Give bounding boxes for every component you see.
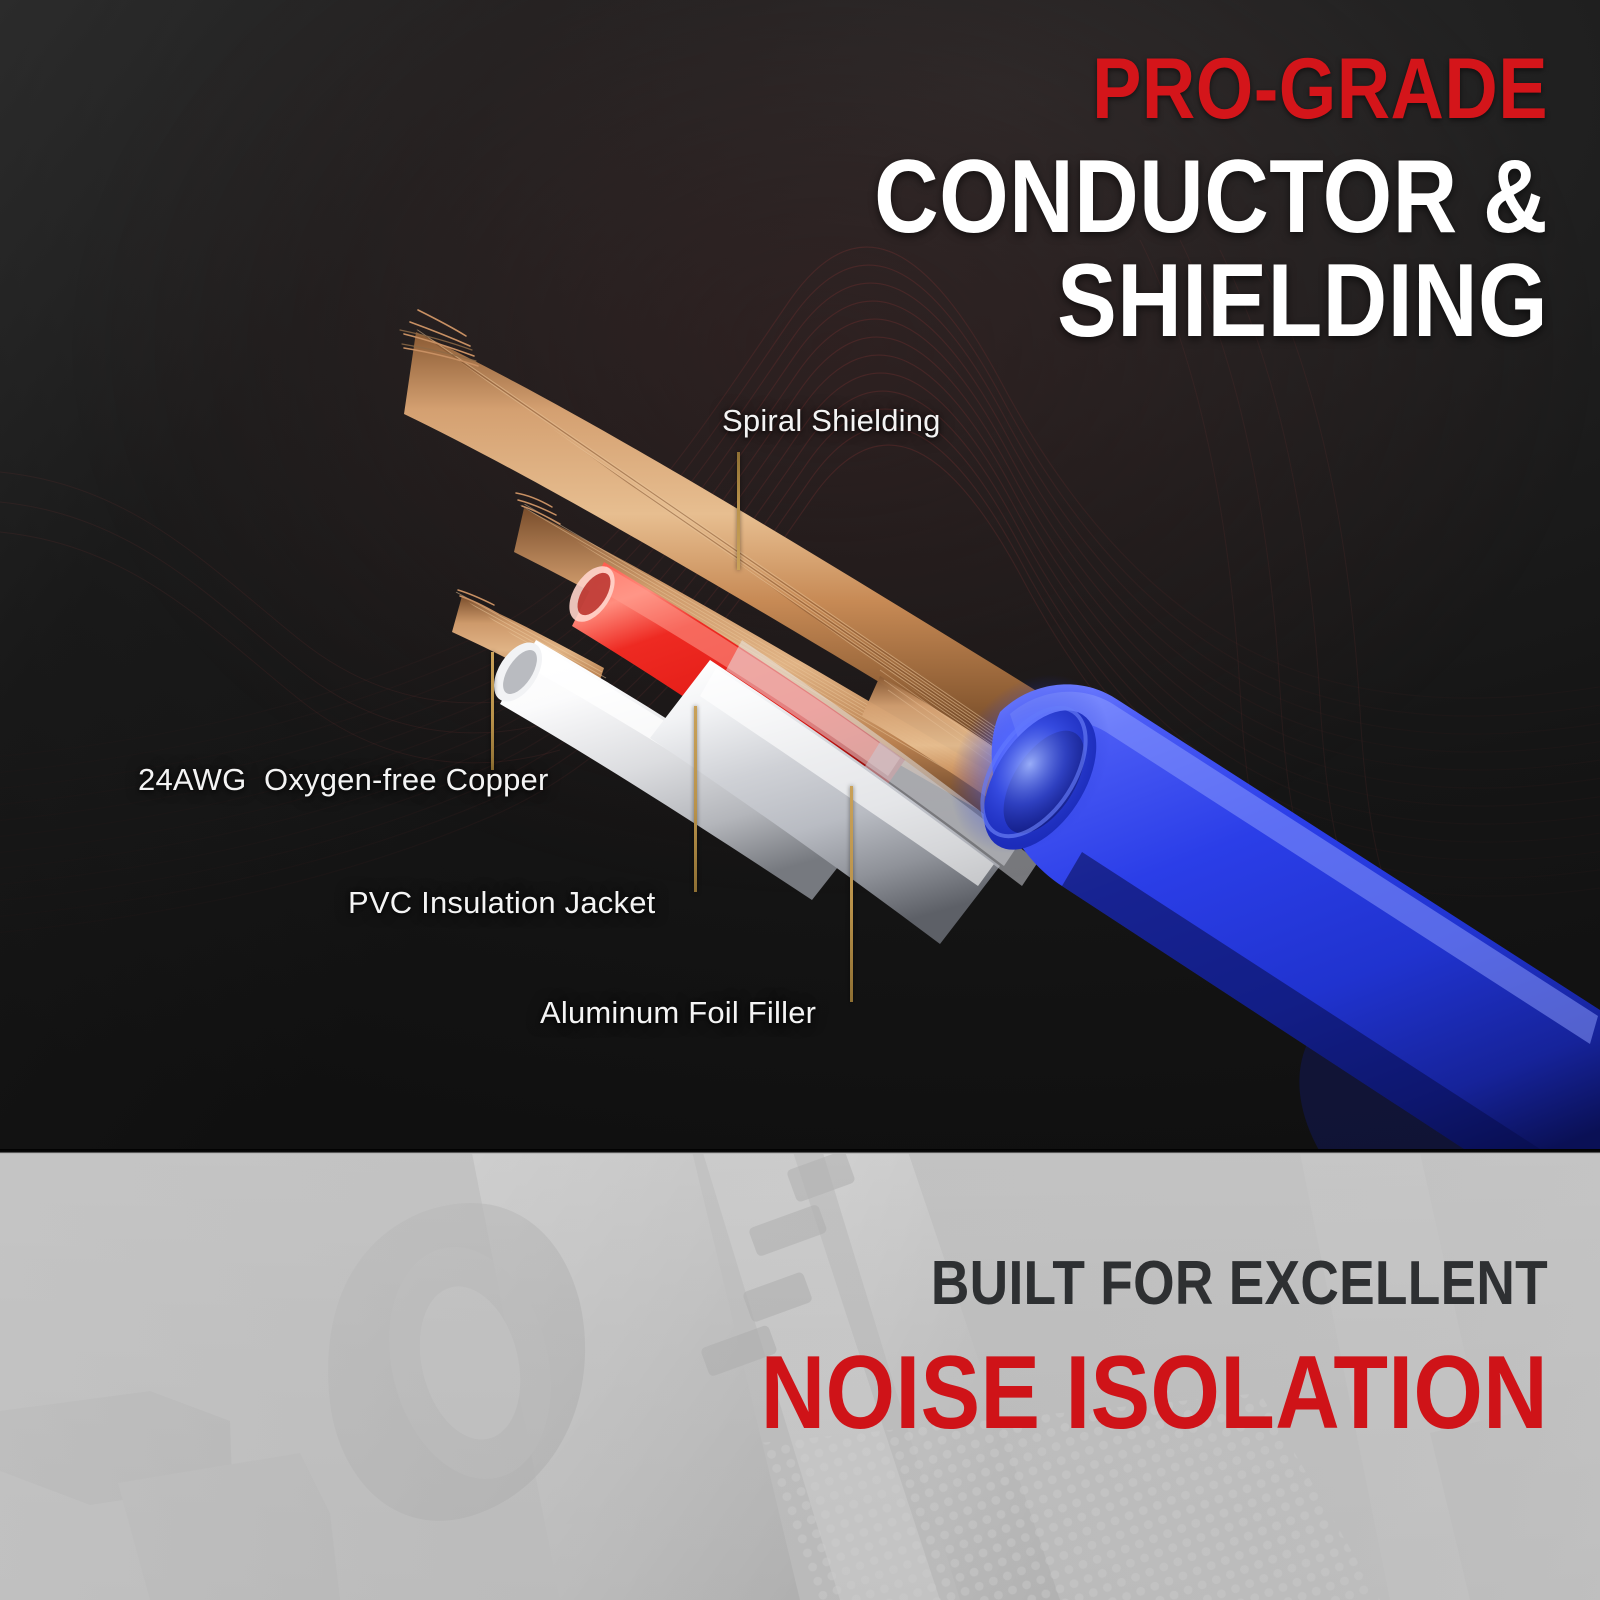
leader-line-pvc-insulation — [694, 706, 697, 892]
bottom-headline-text: NOISE ISOLATION — [516, 1341, 1548, 1445]
leader-line-aluminum-foil — [850, 786, 853, 1002]
conductor-shielding-panel: Spiral Shielding 24AWG Oxygen-free Coppe… — [0, 0, 1600, 1153]
top-headline-block: PRO-GRADE CONDUCTOR & SHIELDING — [248, 48, 1548, 353]
bottom-headline-block: BUILT FOR EXCELLENT NOISE ISOLATION — [348, 1253, 1548, 1445]
top-headline-text: CONDUCTOR & SHIELDING — [430, 145, 1548, 353]
callout-spiral-shielding: Spiral Shielding — [722, 403, 941, 439]
blue-outer-jacket — [917, 644, 1600, 1153]
panel-divider — [0, 1149, 1600, 1154]
callout-pvc-insulation: PVC Insulation Jacket — [348, 885, 655, 921]
leader-line-spiral-shielding — [737, 452, 740, 570]
callout-oxygen-free-copper: 24AWG Oxygen-free Copper — [138, 762, 548, 798]
callout-aluminum-foil: Aluminum Foil Filler — [540, 995, 816, 1031]
product-infographic: Spiral Shielding 24AWG Oxygen-free Coppe… — [0, 0, 1600, 1600]
leader-line-oxygen-free-copper — [491, 652, 494, 770]
bottom-kicker-text: BUILT FOR EXCELLENT — [516, 1253, 1548, 1315]
top-kicker-text: PRO-GRADE — [430, 48, 1548, 131]
